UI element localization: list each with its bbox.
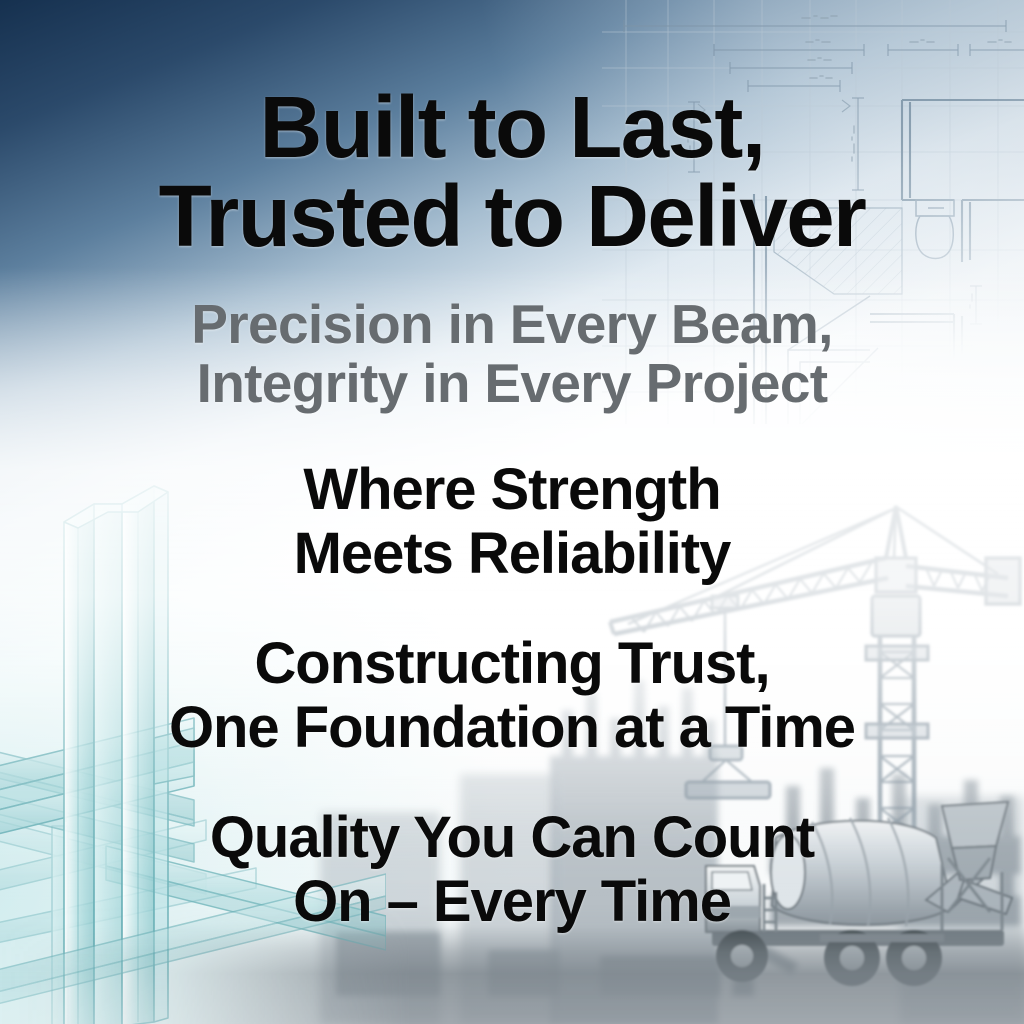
slogan-a-line-2: Meets Reliability <box>0 522 1024 586</box>
headline-line-1: Built to Last, <box>0 84 1024 173</box>
subheadline-line-2: Integrity in Every Project <box>0 354 1024 413</box>
headline-block: Built to Last, Trusted to Deliver <box>0 84 1024 261</box>
slogan-c-line-1: Quality You Can Count <box>0 806 1024 870</box>
slogan-poster: Built to Last, Trusted to Deliver Precis… <box>0 0 1024 1024</box>
subheadline-block: Precision in Every Beam, Integrity in Ev… <box>0 295 1024 413</box>
slogan-block-trust: Constructing Trust, One Foundation at a … <box>0 632 1024 760</box>
slogan-block-strength: Where Strength Meets Reliability <box>0 458 1024 586</box>
slogan-block-quality: Quality You Can Count On – Every Time <box>0 806 1024 934</box>
slogan-a-line-1: Where Strength <box>0 458 1024 522</box>
headline-line-2: Trusted to Deliver <box>0 173 1024 262</box>
slogan-c-line-2: On – Every Time <box>0 870 1024 934</box>
subheadline-line-1: Precision in Every Beam, <box>0 295 1024 354</box>
slogan-b-line-2: One Foundation at a Time <box>0 696 1024 760</box>
slogan-copy-stack: Built to Last, Trusted to Deliver Precis… <box>0 0 1024 1024</box>
slogan-b-line-1: Constructing Trust, <box>0 632 1024 696</box>
